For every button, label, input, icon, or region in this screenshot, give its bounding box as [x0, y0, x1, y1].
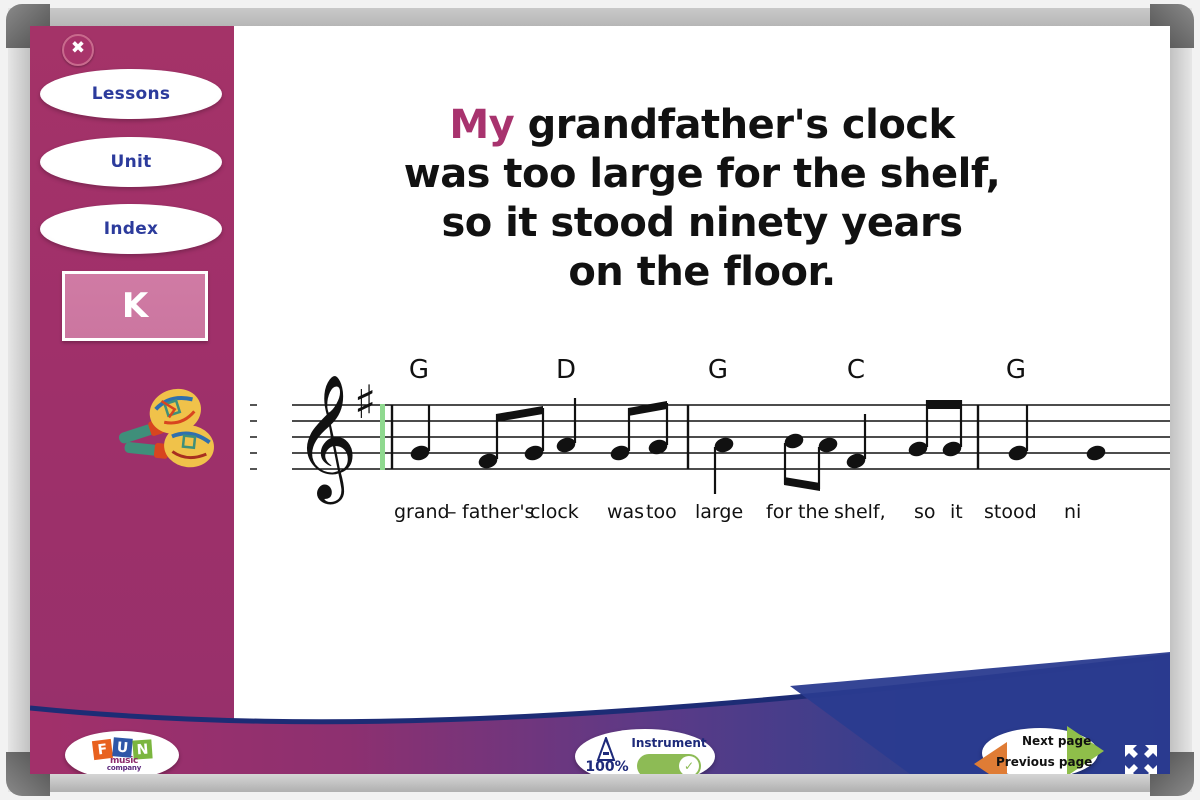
sidebar-item-label: Index — [104, 219, 159, 239]
metronome-icon — [593, 737, 619, 761]
frame-right-bar — [1170, 8, 1192, 792]
lyrics-line-4: on the floor. — [234, 248, 1170, 297]
instrument-label: Instrument — [629, 736, 709, 750]
chord-symbols: G D G C G — [409, 356, 1026, 385]
notes — [409, 398, 1107, 494]
sidebar-item-lessons[interactable]: Lessons — [40, 69, 222, 119]
lyric-syllable: the — [798, 501, 829, 523]
whiteboard-frame: ✖ Lessons Unit Index K — [0, 0, 1200, 800]
chord-symbol: D — [556, 356, 576, 385]
instrument-control[interactable]: 100% Instrument ✓ — [575, 729, 715, 774]
lyrics-line-3: so it stood ninety years — [234, 199, 1170, 248]
treble-clef-icon: 𝄞 — [294, 374, 358, 504]
staff-left-ticks — [250, 404, 257, 470]
sidebar-item-label: Unit — [110, 152, 151, 172]
fullscreen-icon[interactable] — [1123, 743, 1159, 774]
staff-lines — [292, 405, 1170, 469]
chord-symbol: G — [1006, 356, 1026, 385]
logo-wordmark-line2: company — [81, 764, 167, 772]
fun-music-company-logo[interactable]: F U N music company — [65, 731, 179, 774]
chord-symbol: C — [847, 356, 865, 385]
chord-symbol: G — [708, 356, 728, 385]
lyrics-accent-word: My — [449, 102, 514, 148]
lyric-syllable: for — [766, 501, 792, 523]
lesson-content: My grandfather's clock was too large for… — [234, 26, 1170, 774]
music-score[interactable]: 𝄞 ♯ G D G — [234, 356, 1170, 556]
toggle-knob: ✓ — [679, 756, 699, 774]
lyrics-display: My grandfather's clock was too large for… — [234, 101, 1170, 297]
grade-level-button[interactable]: K — [62, 271, 208, 341]
score-lyrics: grand – father's clock was too large for… — [394, 501, 1081, 523]
app-screen: ✖ Lessons Unit Index K — [30, 26, 1170, 774]
lyric-syllable: shelf, — [834, 501, 886, 523]
lyric-syllable: stood — [984, 501, 1037, 523]
chord-symbol: G — [409, 356, 429, 385]
lyric-syllable: clock — [530, 501, 579, 523]
lyric-syllable: was — [607, 501, 644, 523]
sidebar: ✖ Lessons Unit Index K — [30, 26, 234, 774]
lyrics-line-1: My grandfather's clock — [234, 101, 1170, 150]
maracas-icon — [108, 366, 228, 476]
previous-page-button[interactable]: Previous page — [996, 755, 1092, 769]
sidebar-item-unit[interactable]: Unit — [40, 137, 222, 187]
frame-bottom-bar — [18, 772, 1182, 792]
next-page-button[interactable]: Next page — [1022, 734, 1091, 748]
sidebar-item-label: Lessons — [92, 84, 171, 104]
tempo-percentage: 100% — [585, 759, 629, 774]
grade-level-label: K — [122, 286, 148, 326]
sidebar-item-index[interactable]: Index — [40, 204, 222, 254]
playhead-cursor — [380, 404, 385, 470]
frame-left-bar — [8, 8, 30, 792]
lyric-syllable: ni — [1064, 501, 1081, 523]
lyric-syllable: father's — [462, 501, 534, 523]
close-button[interactable]: ✖ — [62, 34, 94, 66]
instrument-toggle[interactable]: ✓ — [637, 754, 701, 774]
lyric-syllable: – — [447, 501, 457, 523]
lyrics-line-2: was too large for the shelf, — [234, 150, 1170, 199]
close-icon: ✖ — [64, 36, 92, 64]
lyric-syllable: so — [914, 501, 936, 523]
lyric-syllable: too — [646, 501, 677, 523]
frame-top-bar — [18, 8, 1182, 28]
lyric-syllable: it — [950, 501, 963, 523]
lyric-syllable: large — [695, 501, 743, 523]
key-signature-sharp: ♯ — [354, 375, 376, 429]
page-navigation: Next page Previous page — [960, 723, 1120, 774]
lyrics-line-1-rest: grandfather's clock — [514, 102, 954, 148]
lyric-syllable: grand — [394, 501, 450, 523]
logo-block-u: U — [112, 737, 133, 758]
